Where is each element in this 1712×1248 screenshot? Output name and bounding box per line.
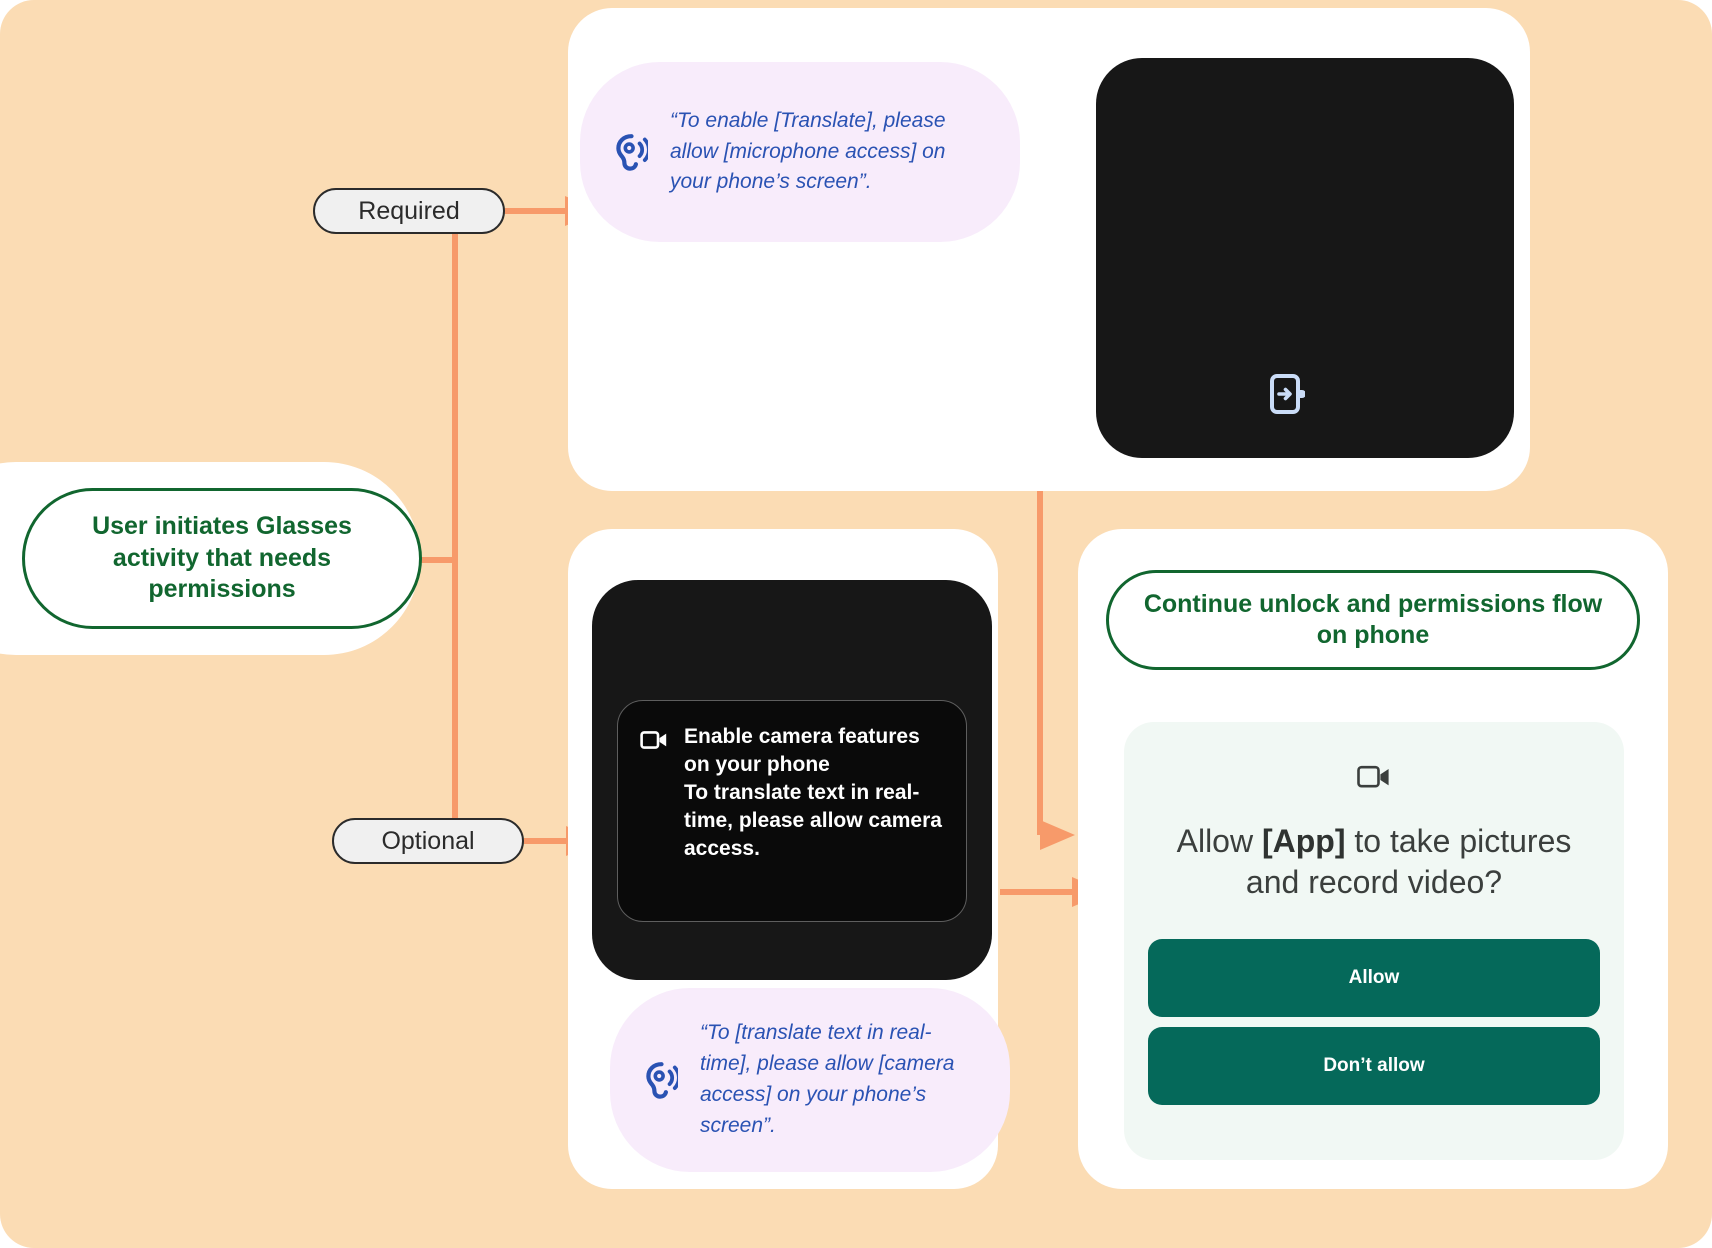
speech-bubble-camera-text: “To [translate text in real-time], pleas… xyxy=(700,1018,970,1141)
speech-bubble-microphone-text: “To enable [Translate], please allow [mi… xyxy=(670,106,980,199)
ear-hearing-icon xyxy=(614,133,648,171)
video-camera-icon xyxy=(1357,764,1391,791)
permission-dialog-title: Allow [App] to take pictures and record … xyxy=(1148,821,1600,903)
permission-title-prefix: Allow xyxy=(1177,823,1262,859)
branch-required-label: Required xyxy=(358,197,459,226)
speech-bubble-microphone: “To enable [Translate], please allow [mi… xyxy=(580,62,1020,242)
video-camera-icon xyxy=(640,729,668,751)
start-node-label: User initiates Glasses activity that nee… xyxy=(53,511,391,606)
arrowhead-to-dialog-upper xyxy=(1040,820,1075,850)
speech-bubble-camera: “To [translate text in real-time], pleas… xyxy=(610,988,1010,1172)
permission-title-app: [App] xyxy=(1262,823,1346,859)
start-node[interactable]: User initiates Glasses activity that nee… xyxy=(22,488,422,629)
branch-optional[interactable]: Optional xyxy=(332,818,524,864)
glasses-notification-title: Enable camera features on your phone xyxy=(684,725,920,776)
continue-node-label: Continue unlock and permissions flow on … xyxy=(1135,589,1611,652)
ear-hearing-icon xyxy=(644,1061,678,1099)
phone-with-arrow-icon xyxy=(1269,373,1305,415)
glasses-notification-card: Enable camera features on your phone To … xyxy=(617,700,967,922)
allow-button[interactable]: Allow xyxy=(1148,939,1600,1017)
phone-permission-dialog: Allow [App] to take pictures and record … xyxy=(1124,722,1624,1160)
branch-optional-label: Optional xyxy=(381,827,474,856)
flow-diagram-canvas: User initiates Glasses activity that nee… xyxy=(0,0,1712,1248)
glasses-notification-body: To translate text in real-time, please a… xyxy=(684,779,946,863)
dont-allow-button[interactable]: Don’t allow xyxy=(1148,1027,1600,1105)
continue-node[interactable]: Continue unlock and permissions flow on … xyxy=(1106,570,1640,670)
branch-required[interactable]: Required xyxy=(313,188,505,234)
glasses-notification-text: Enable camera features on your phone To … xyxy=(684,723,946,899)
glasses-display-required xyxy=(1096,58,1514,458)
